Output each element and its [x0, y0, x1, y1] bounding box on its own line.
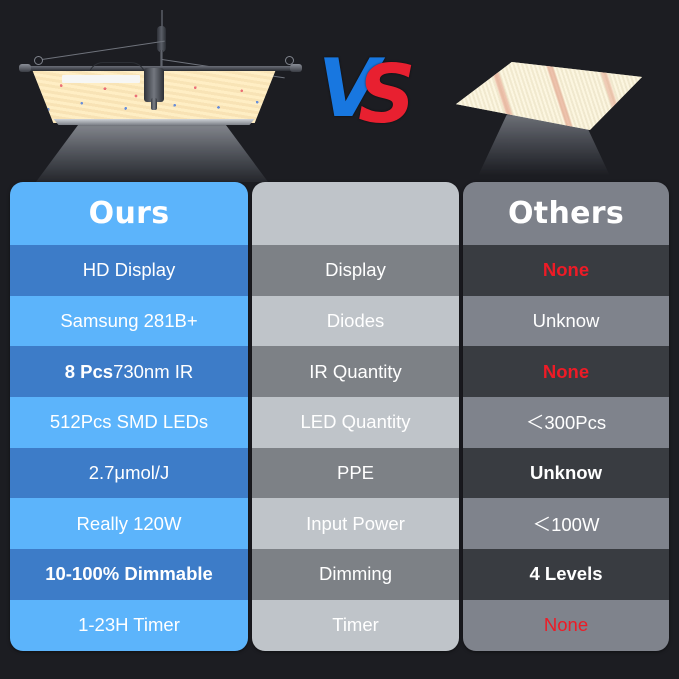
cell-ours-2-rest: 730nm IR: [113, 361, 193, 383]
cell-spec-3: LED Quantity: [252, 397, 459, 448]
comparison-infographic: V S Ours HD DisplaySamsung 281B+8 Pcs 73…: [0, 0, 679, 679]
column-others: Others NoneUnknowNone＜300PcsUnknow＜100W4…: [463, 182, 669, 651]
cell-others-5: ＜100W: [463, 498, 669, 549]
cell-ours-4: 2.7μmol/J: [10, 448, 248, 499]
vs-badge: V S: [318, 48, 428, 130]
hero-product-comparison: V S: [0, 0, 679, 182]
cell-ours-2-lead: 8 Pcs: [65, 361, 113, 383]
column-header-others: Others: [463, 182, 669, 245]
cell-spec-5: Input Power: [252, 498, 459, 549]
cell-spec-4: PPE: [252, 448, 459, 499]
vs-letter-s: S: [358, 54, 410, 136]
hanger-body-icon: [157, 26, 166, 52]
column-ours: Ours HD DisplaySamsung 281B+8 Pcs 730nm …: [10, 182, 248, 651]
rope-eyelet-left-icon: [34, 56, 43, 65]
comparison-table: Ours HD DisplaySamsung 281B+8 Pcs 730nm …: [10, 182, 669, 651]
cell-spec-1: Diodes: [252, 296, 459, 347]
cell-spec-6: Dimming: [252, 549, 459, 600]
frame-knob-right-icon: [290, 64, 302, 72]
cell-ours-7: 1-23H Timer: [10, 600, 248, 651]
board-edge-premium: [25, 119, 283, 125]
cell-spec-2: IR Quantity: [252, 346, 459, 397]
cell-others-6: 4 Levels: [463, 549, 669, 600]
cell-ours-6: 10-100% Dimmable: [10, 549, 248, 600]
hanger-rope-left-icon: [42, 41, 165, 60]
center-mount-pin-icon: [151, 98, 157, 110]
frame-knob-left-icon: [19, 64, 31, 72]
led-grow-light-panel-basic-image: [440, 42, 660, 172]
column-header-spec: [252, 182, 459, 245]
column-header-ours: Ours: [10, 182, 248, 245]
cell-others-7: None: [463, 600, 669, 651]
cell-ours-3: 512Pcs SMD LEDs: [10, 397, 248, 448]
led-grow-light-panel-premium-image: [2, 6, 302, 176]
led-diode-board-basic: [456, 62, 642, 130]
cell-others-1: Unknow: [463, 296, 669, 347]
hd-display-strip: [62, 75, 140, 83]
column-spec: DisplayDiodesIR QuantityLED QuantityPPEI…: [252, 182, 459, 651]
cell-ours-0: HD Display: [10, 245, 248, 296]
cell-ours-5: Really 120W: [10, 498, 248, 549]
cell-ours-1: Samsung 281B+: [10, 296, 248, 347]
cell-others-2: None: [463, 346, 669, 397]
cell-spec-0: Display: [252, 245, 459, 296]
cell-others-0: None: [463, 245, 669, 296]
cell-others-3: ＜300Pcs: [463, 397, 669, 448]
cell-ours-2: 8 Pcs 730nm IR: [10, 346, 248, 397]
cell-spec-7: Timer: [252, 600, 459, 651]
light-beam-cone-left: [30, 124, 274, 182]
center-mount-block-icon: [144, 68, 164, 102]
cell-others-4: Unknow: [463, 448, 669, 499]
